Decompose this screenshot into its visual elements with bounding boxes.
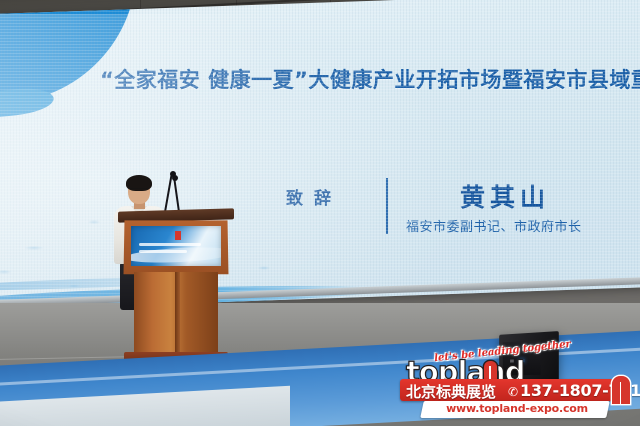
speaker-glasses [129, 188, 149, 193]
watermark-company-name: 北京标典展览 [406, 381, 496, 402]
podium-banner-red-mark [175, 231, 181, 240]
podium-banner-text-line [139, 243, 201, 246]
photographer-watermark: let's be leading together topland 北京标典展览… [398, 346, 640, 422]
backdrop-speaker-role: 福安市委副书记、市政府市长 [406, 216, 582, 235]
watermark-url-text: www.topland-expo.com [432, 402, 602, 415]
microphone-head [172, 175, 178, 181]
backdrop-event-title: “全家福安 健康一夏”大健康产业开拓市场暨福安市县域重点产业链“四链”融 [100, 64, 640, 94]
podium-banner-wave [131, 245, 221, 265]
podium-banner [131, 226, 221, 266]
red-gate-icon-large [612, 376, 630, 404]
backdrop-vertical-divider [386, 178, 388, 234]
podium-column-seam [175, 272, 180, 354]
backdrop-content: “全家福安 健康一夏”大健康产业开拓市场暨福安市县域重点产业链“四链”融 致辞 … [0, 14, 640, 310]
stage-photo-scene: “全家福安 健康一夏”大健康产业开拓市场暨福安市县域重点产业链“四链”融 致辞 … [0, 0, 640, 426]
backdrop-speech-label: 致辞 [286, 184, 342, 209]
podium-banner-text-line [139, 250, 187, 253]
led-backdrop-screen: “全家福安 健康一夏”大健康产业开拓市场暨福安市县域重点产业链“四链”融 致辞 … [0, 0, 640, 310]
backdrop-speaker-name: 黄其山 [460, 178, 550, 214]
red-gate-icon [484, 361, 497, 380]
phone-icon: ✆ [508, 385, 518, 399]
backdrop-blue-sliver-shape [0, 85, 55, 124]
